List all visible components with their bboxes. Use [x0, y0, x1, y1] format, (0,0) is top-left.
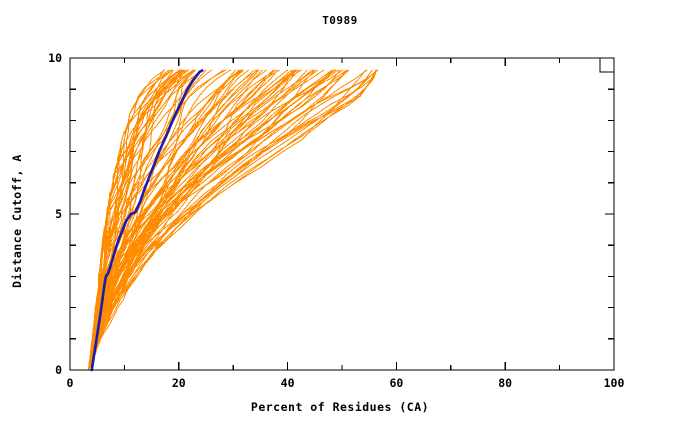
x-tick-label-0: 0	[50, 376, 90, 390]
x-tick-label-100: 100	[594, 376, 634, 390]
x-tick-label-20: 20	[159, 376, 199, 390]
x-tick-label-60: 60	[376, 376, 416, 390]
y-tick-label-5: 5	[32, 207, 62, 221]
plot-area	[0, 0, 680, 440]
y-tick-label-0: 0	[32, 363, 62, 377]
x-tick-label-40: 40	[268, 376, 308, 390]
y-tick-label-10: 10	[32, 51, 62, 65]
chart-figure: T0989 Distance Cutoff, A Percent of Resi…	[0, 0, 680, 440]
x-tick-label-80: 80	[485, 376, 525, 390]
prediction-curves-group	[89, 70, 379, 370]
